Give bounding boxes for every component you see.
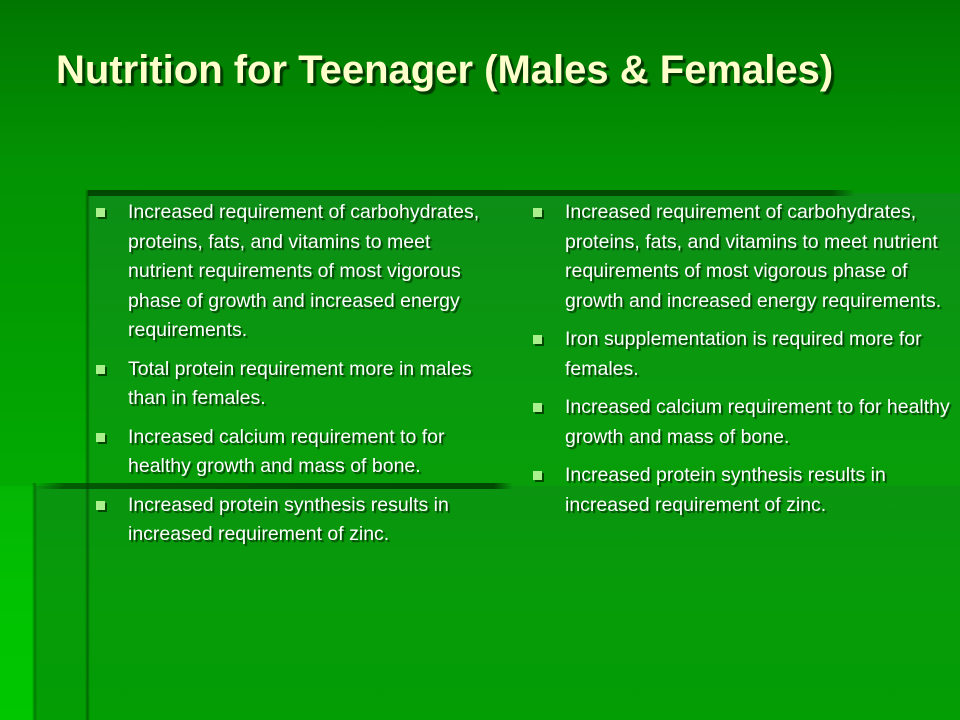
bullet-text: Increased calcium requirement to for hea… (565, 396, 950, 448)
bullet-list-left: Increased requirement of carbohydrates, … (96, 198, 496, 550)
panel-top-shadow-edge (88, 190, 855, 196)
list-item: Total protein requirement more in males … (96, 355, 496, 414)
list-item: Increased requirement of carbohydrates, … (96, 198, 496, 346)
list-item: Increased protein synthesis results in i… (96, 491, 496, 550)
square-bullet-icon (533, 403, 542, 412)
square-bullet-icon (96, 501, 105, 510)
bullet-text: Total protein requirement more in males … (128, 358, 472, 410)
slide-title: Nutrition for Teenager (Males & Females) (56, 44, 886, 96)
square-bullet-icon (533, 208, 542, 217)
list-item: Iron supplementation is required more fo… (533, 325, 950, 384)
square-bullet-icon (96, 433, 105, 442)
list-item: Increased calcium requirement to for hea… (96, 423, 496, 482)
bullet-text: Increased requirement of carbohydrates, … (128, 201, 479, 341)
list-item: Increased requirement of carbohydrates, … (533, 198, 950, 316)
bullet-column-left: Increased requirement of carbohydrates, … (0, 198, 510, 678)
bullet-text: Increased protein synthesis results in i… (565, 464, 886, 516)
square-bullet-icon (533, 335, 542, 344)
slide-body: Increased requirement of carbohydrates, … (0, 198, 960, 678)
presentation-slide: Nutrition for Teenager (Males & Females)… (0, 0, 960, 720)
bullet-text: Increased protein synthesis results in i… (128, 494, 449, 546)
bullet-text: Increased requirement of carbohydrates, … (565, 201, 941, 312)
square-bullet-icon (96, 365, 105, 374)
square-bullet-icon (96, 208, 105, 217)
bullet-text: Increased calcium requirement to for hea… (128, 426, 444, 478)
bullet-text: Iron supplementation is required more fo… (565, 328, 922, 380)
list-item: Increased calcium requirement to for hea… (533, 393, 950, 452)
bullet-column-right: Increased requirement of carbohydrates, … (510, 198, 960, 678)
list-item: Increased protein synthesis results in i… (533, 461, 950, 520)
square-bullet-icon (533, 471, 542, 480)
bullet-list-right: Increased requirement of carbohydrates, … (533, 198, 950, 520)
